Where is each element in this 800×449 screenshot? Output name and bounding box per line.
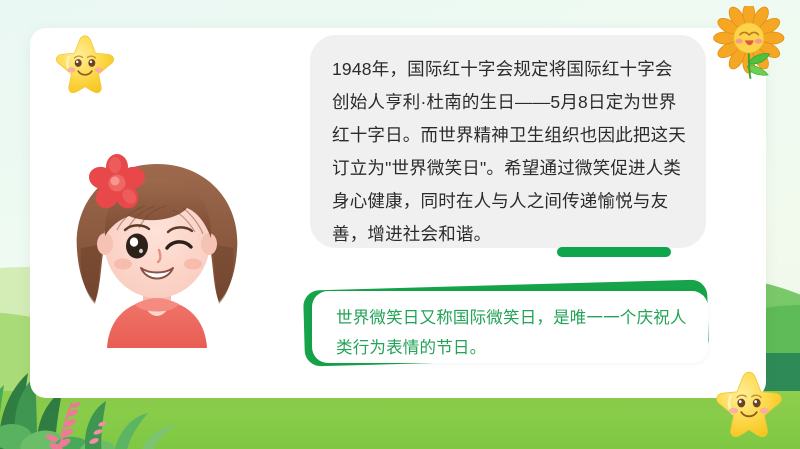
- cartoon-girl-illustration: [55, 138, 260, 348]
- highlight-card-text: 世界微笑日又称国际微笑日，是唯一一个庆祝人类行为表情的节日。: [336, 303, 688, 363]
- meadow-ground: [0, 391, 800, 449]
- smiling-sunflower-icon: [712, 6, 792, 86]
- info-paragraph-text: 1948年，国际红十字会规定将国际红十字会创始人亨利·杜南的生日——5月8日定为…: [332, 53, 690, 251]
- smiling-star-icon: [54, 32, 116, 94]
- highlight-card: 世界微笑日又称国际微笑日，是唯一一个庆祝人类行为表情的节日。: [300, 281, 712, 369]
- smiling-star-icon: [714, 368, 784, 438]
- info-paragraph-card: 1948年，国际红十字会规定将国际红十字会创始人亨利·杜南的生日——5月8日定为…: [310, 35, 706, 248]
- highlight-card-surface: 世界微笑日又称国际微笑日，是唯一一个庆祝人类行为表情的节日。: [312, 291, 708, 363]
- slide-canvas: 1948年，国际红十字会规定将国际红十字会创始人亨利·杜南的生日——5月8日定为…: [0, 0, 800, 449]
- green-accent-bar: [557, 247, 671, 257]
